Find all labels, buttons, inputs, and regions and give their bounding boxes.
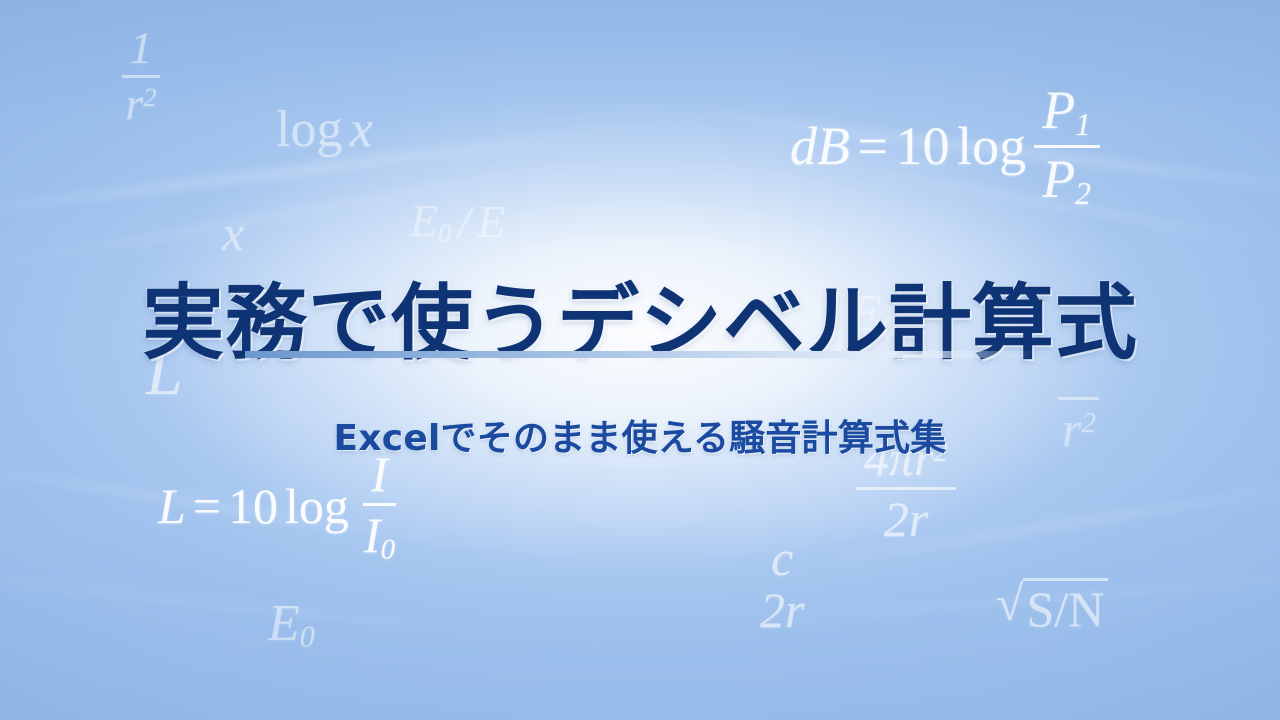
- title-block: 実務で使うデシベル計算式 Excelでそのまま使える騒音計算式集: [0, 0, 1280, 720]
- page-subtitle: Excelでそのまま使える騒音計算式集: [0, 419, 1280, 459]
- title-divider: [245, 351, 1035, 358]
- presentation-slide: 1 r2 logx dB=10log P1 P2 x E0/E L E0: [0, 0, 1280, 720]
